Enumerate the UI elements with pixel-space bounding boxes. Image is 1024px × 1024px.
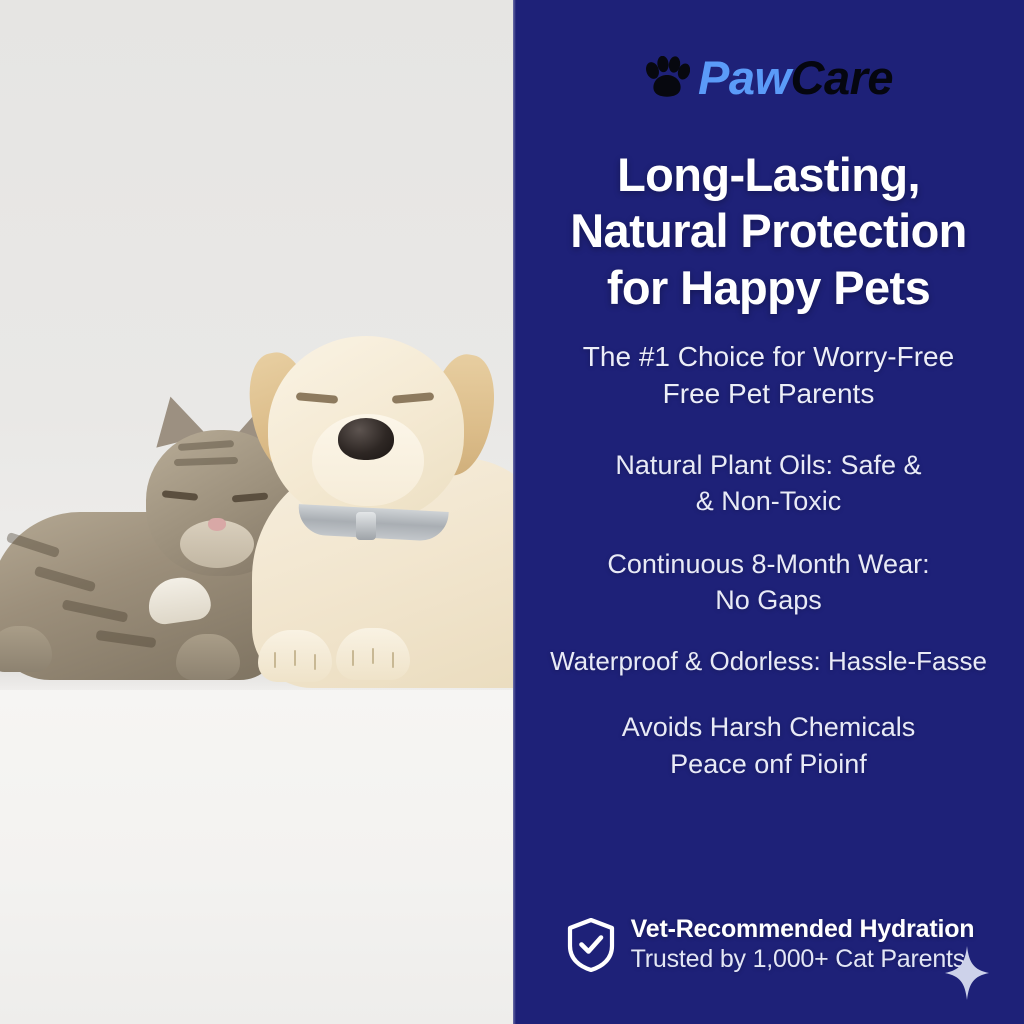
cat-nose: [208, 518, 226, 531]
subheading-line-1: The #1 Choice for Worry-Free: [521, 338, 1016, 375]
subheading: The #1 Choice for Worry-Free Free Pet Pa…: [521, 338, 1016, 412]
trust-badge-text: Vet-Recommended Hydration Trusted by 1,0…: [631, 915, 975, 974]
headline-line-3: for Happy Pets: [521, 260, 1016, 316]
benefit-item: Continuous 8-Month Wear: No Gaps: [521, 546, 1016, 619]
pet-photo: [0, 0, 513, 1024]
cat-paw: [176, 634, 240, 680]
benefit-line-2: No Gaps: [521, 582, 1016, 618]
dog-paw: [336, 628, 410, 680]
trust-badge: Vet-Recommended Hydration Trusted by 1,0…: [563, 915, 975, 974]
headline-line-1: Long-Lasting,: [521, 147, 1016, 203]
dog-paw: [258, 630, 332, 682]
benefit-line-2: Peace onf Pioinf: [521, 746, 1016, 782]
sparkle-icon: [944, 946, 990, 1000]
dog-nose: [338, 418, 394, 460]
brand-logo[interactable]: PawCare: [644, 54, 893, 101]
benefit-item: Natural Plant Oils: Safe & & Non-Toxic: [521, 447, 1016, 520]
brand-name-paw: Paw: [698, 51, 791, 104]
benefit-line-1: Natural Plant Oils: Safe &: [521, 447, 1016, 483]
copy-panel: PawCare Long-Lasting, Natural Protection…: [513, 0, 1024, 1024]
benefit-line-1: Continuous 8-Month Wear:: [521, 546, 1016, 582]
benefit-line-1: Avoids Harsh Chemicals: [521, 709, 1016, 745]
dog-collar-buckle: [356, 512, 376, 540]
trust-badge-subtitle: Trusted by 1,000+ Cat Parents: [631, 945, 975, 975]
brand-name-care: Care: [791, 51, 894, 104]
page-title: Long-Lasting, Natural Protection for Hap…: [521, 147, 1016, 316]
brand-wordmark: PawCare: [698, 54, 893, 101]
panel-edge: [513, 0, 516, 1024]
paw-print-icon: [644, 56, 690, 100]
benefit-item: Waterproof & Odorless: Hassle-Fasse: [521, 644, 1016, 679]
animals-group: [0, 330, 513, 710]
benefit-item: Avoids Harsh Chemicals Peace onf Pioinf: [521, 709, 1016, 782]
trust-badge-title: Vet-Recommended Hydration: [631, 915, 975, 945]
table-surface: [0, 690, 513, 1024]
shield-check-icon: [567, 918, 615, 972]
benefit-line-2: & Non-Toxic: [521, 483, 1016, 519]
benefit-line-1: Waterproof & Odorless: Hassle-Fasse: [521, 644, 1016, 679]
advertisement-creative: PawCare Long-Lasting, Natural Protection…: [0, 0, 1024, 1024]
subheading-line-2: Free Pet Parents: [521, 375, 1016, 412]
headline-line-2: Natural Protection: [521, 203, 1016, 259]
